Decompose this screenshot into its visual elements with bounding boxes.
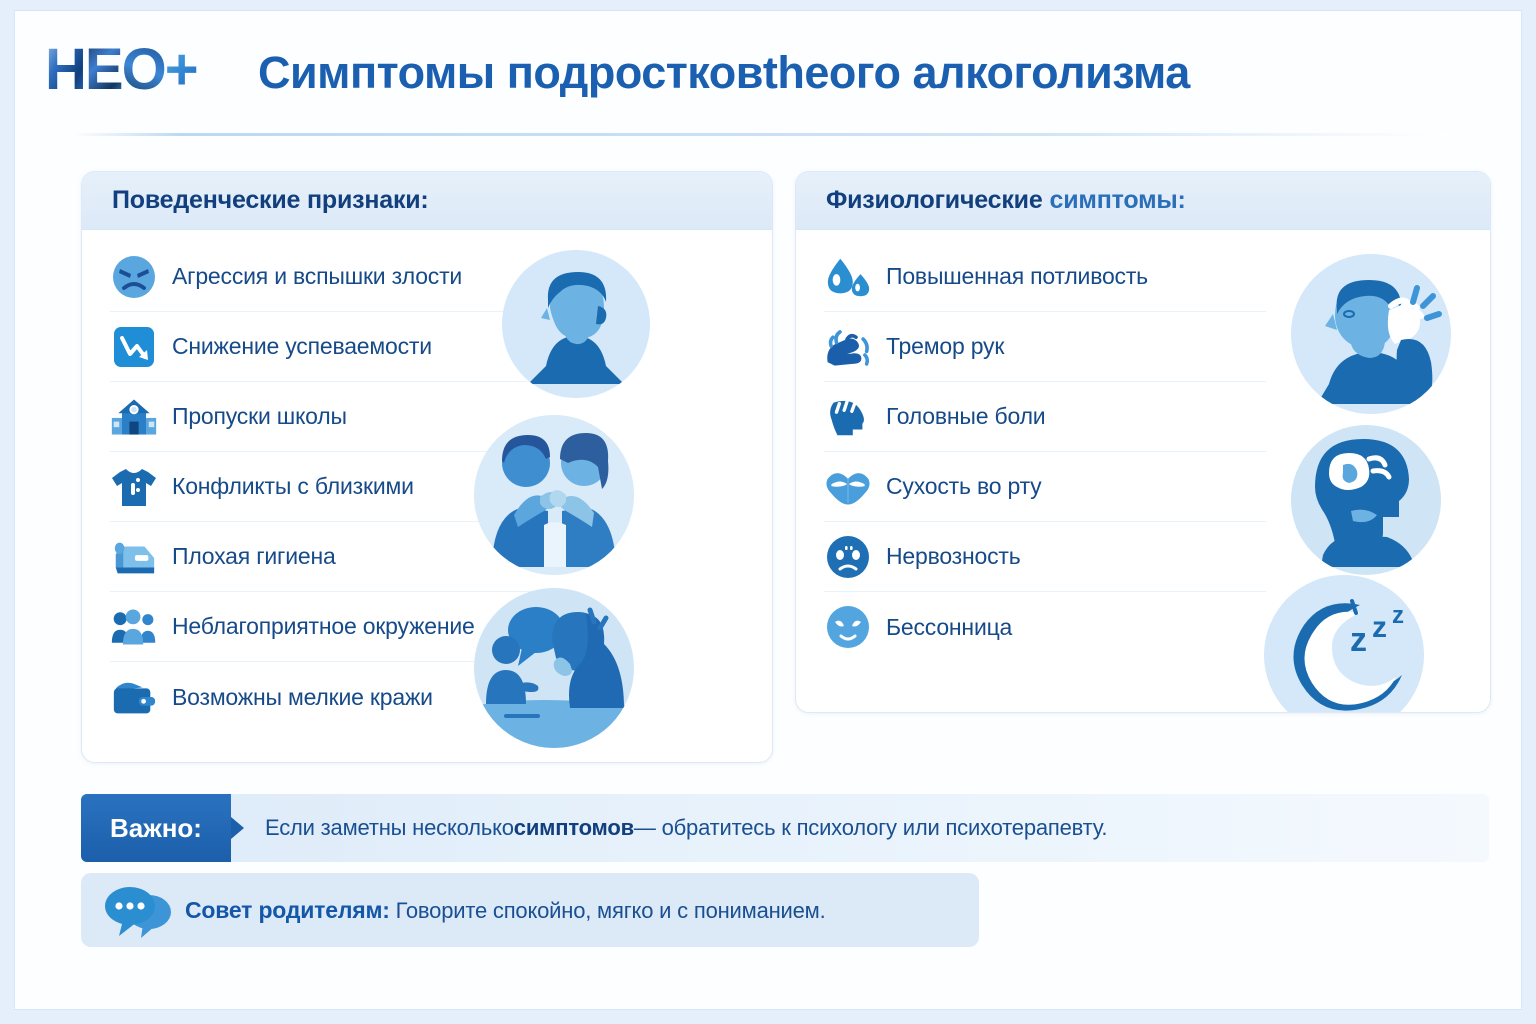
list-item-label: Неблагоприятное окружение: [172, 613, 475, 640]
list-item[interactable]: Сухость во рту: [824, 452, 1266, 522]
arguing-couple-illustration: [474, 415, 634, 575]
svg-text:z: z: [1392, 602, 1404, 629]
moon-sleep-illustration: z z z: [1264, 575, 1424, 713]
list-item[interactable]: Агрессия и вспышки злости: [110, 242, 552, 312]
list-item-label: Головные боли: [886, 403, 1045, 430]
important-text-before: Если заметны несколько: [265, 815, 514, 841]
shaking-hand-icon: [824, 323, 872, 371]
group-people-icon: [110, 603, 158, 651]
list-item-label: Повышенная потливость: [886, 263, 1148, 290]
list-item-label: Тремор рук: [886, 333, 1004, 360]
important-banner-text: Если заметны несколько симптомов — обрат…: [231, 794, 1107, 862]
list-item-label: Плохая гигиена: [172, 543, 336, 570]
list-item[interactable]: Бессонница: [824, 592, 1266, 662]
list-item[interactable]: Нервозность: [824, 522, 1266, 592]
list-item-label: Сухость во рту: [886, 473, 1041, 500]
poster-header: HEO+ Симптомы подростковtheого алкоголиз…: [15, 11, 1521, 133]
physiological-header-title: Физиологические: [826, 186, 1043, 215]
important-text-after: — обратитесь к психологу или психотерапе…: [634, 815, 1107, 841]
list-item-label: Нервозность: [886, 543, 1021, 570]
important-text-bold: симптомов: [514, 815, 634, 841]
physiological-card-header: Физиологические симптомы:: [796, 172, 1490, 230]
list-item-label: Агрессия и вспышки злости: [172, 263, 462, 290]
list-item[interactable]: Головные боли: [824, 382, 1266, 452]
tired-face-icon: [824, 603, 872, 651]
declining-chart-icon: [110, 323, 158, 371]
logo-plus-icon: +: [165, 37, 197, 102]
worried-face-icon: [824, 533, 872, 581]
advice-banner-text: Совет родителям: Говорите спокойно, мягк…: [185, 897, 826, 924]
lips-icon: [824, 463, 872, 511]
speech-bubbles-icon: [103, 884, 175, 936]
infographic-poster: HEO+ Симптомы подростковtheого алкоголиз…: [14, 10, 1522, 1010]
conversation-illustration: [474, 588, 634, 748]
list-item[interactable]: Снижение успеваемости: [110, 312, 552, 382]
svg-text:z: z: [1372, 611, 1387, 644]
soap-hygiene-icon: [110, 533, 158, 581]
page-title: Симптомы подростковtheого алкоголизма: [258, 47, 1190, 99]
wallet-icon: [110, 673, 158, 721]
behavioral-signs-card: Поведенческие признаки: Агрессия и вспыш…: [81, 171, 773, 763]
logo-letter-e: E: [85, 37, 122, 102]
status-badge: Важно:: [81, 794, 231, 862]
list-item[interactable]: Повышенная потливость: [824, 242, 1266, 312]
list-item[interactable]: Пропуски школы: [110, 382, 552, 452]
physiological-symptom-list: Повышенная потливость Тремор рук: [796, 230, 1266, 662]
logo-letter-o: O: [122, 37, 165, 102]
behavioral-card-header: Поведенческие признаки:: [82, 172, 772, 230]
list-item[interactable]: Тремор рук: [824, 312, 1266, 382]
head-pain-icon: [824, 393, 872, 441]
water-drops-icon: [824, 253, 872, 301]
physiological-card-body: Повышенная потливость Тремор рук: [796, 230, 1490, 712]
school-building-icon: [110, 393, 158, 441]
tshirt-icon: [110, 463, 158, 511]
list-item-label: Конфликты с близкими: [172, 473, 414, 500]
headache-person-illustration: [1291, 254, 1451, 414]
list-item-label: Пропуски школы: [172, 403, 347, 430]
list-item-label: Снижение успеваемости: [172, 333, 432, 360]
head-brain-illustration: [1291, 425, 1441, 575]
advice-title: Совет родителям:: [185, 897, 390, 923]
angry-face-icon: [110, 253, 158, 301]
physiological-symptoms-card: Физиологические симптомы: Повышенная пот…: [795, 171, 1491, 713]
advice-banner: Совет родителям: Говорите спокойно, мягк…: [81, 873, 979, 947]
svg-text:z: z: [1350, 621, 1367, 659]
physiological-header-subtitle: симптомы:: [1050, 186, 1186, 215]
logo-letter-h: H: [45, 37, 85, 102]
list-item-label: Возможны мелкие кражи: [172, 684, 433, 711]
behavioral-card-body: Агрессия и вспышки злости Снижение успев…: [82, 230, 772, 762]
advice-body: Говорите спокойно, мягко и с пониманием.: [390, 898, 826, 923]
teen-boy-portrait-illustration: [502, 250, 650, 398]
header-divider: [70, 133, 1445, 136]
list-item-label: Бессонница: [886, 614, 1012, 641]
behavioral-header-title: Поведенческие признаки:: [112, 186, 429, 215]
brand-logo: HEO+: [45, 41, 197, 99]
important-banner: Важно: Если заметны несколько симптомов …: [81, 794, 1489, 862]
